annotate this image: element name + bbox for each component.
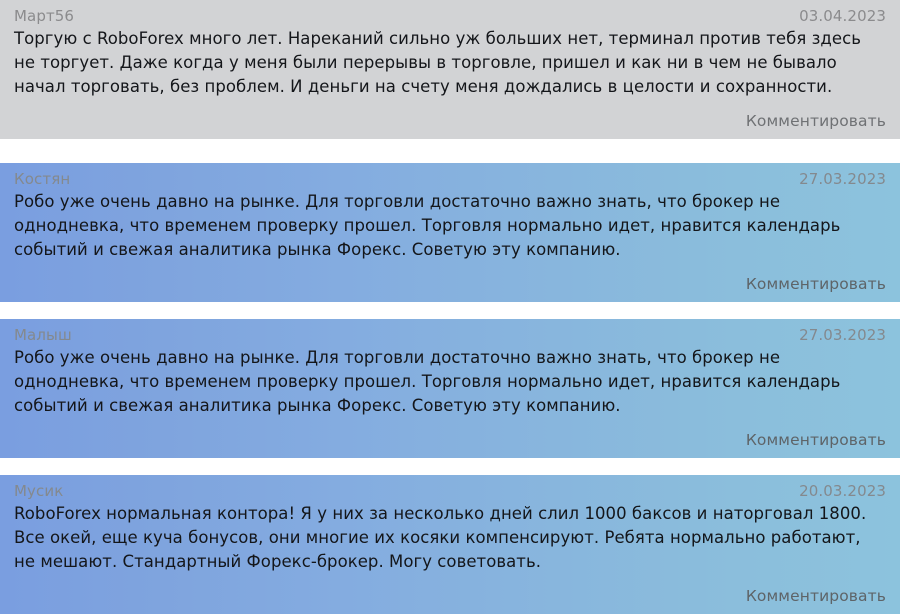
review-card: Малыш 27.03.2023 Робо уже очень давно на… (0, 319, 900, 458)
review-header: Мусик 20.03.2023 (14, 481, 886, 501)
review-header: Костян 27.03.2023 (14, 169, 886, 189)
review-text: Робо уже очень давно на рынке. Для торго… (14, 190, 886, 262)
review-text: Робо уже очень давно на рынке. Для торго… (14, 346, 886, 418)
review-header: Малыш 27.03.2023 (14, 325, 886, 345)
review-text: RoboForex нормальная контора! Я у них за… (14, 502, 886, 574)
review-author: Костян (14, 170, 70, 188)
review-author: Малыш (14, 326, 72, 344)
review-text: Торгую с RoboForex много лет. Нареканий … (14, 27, 886, 99)
comment-link[interactable]: Комментировать (746, 431, 886, 449)
card-separator (0, 458, 900, 475)
review-card: Мусик 20.03.2023 RoboForex нормальная ко… (0, 475, 900, 614)
review-actions: Комментировать (14, 430, 886, 450)
reviews-list: Март56 03.04.2023 Торгую с RoboForex мно… (0, 0, 900, 614)
review-actions: Комментировать (14, 274, 886, 294)
review-date: 03.04.2023 (799, 6, 886, 26)
review-actions: Комментировать (14, 111, 886, 131)
review-card: Костян 27.03.2023 Робо уже очень давно н… (0, 163, 900, 302)
review-date: 27.03.2023 (799, 169, 886, 189)
comment-link[interactable]: Комментировать (746, 275, 886, 293)
card-separator (0, 302, 900, 319)
card-separator (0, 139, 900, 163)
review-date: 20.03.2023 (799, 481, 886, 501)
review-author: Март56 (14, 7, 74, 25)
review-card: Март56 03.04.2023 Торгую с RoboForex мно… (0, 0, 900, 139)
comment-link[interactable]: Комментировать (746, 112, 886, 130)
review-author: Мусик (14, 482, 63, 500)
review-header: Март56 03.04.2023 (14, 6, 886, 26)
review-actions: Комментировать (14, 586, 886, 606)
review-date: 27.03.2023 (799, 325, 886, 345)
comment-link[interactable]: Комментировать (746, 587, 886, 605)
